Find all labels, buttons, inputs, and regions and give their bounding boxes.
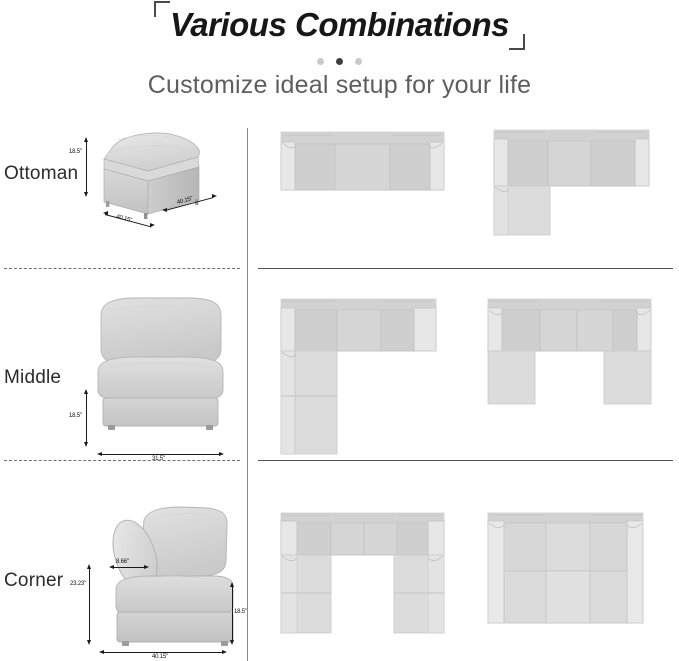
middle-height-arrow-up bbox=[84, 389, 88, 394]
page-title: Various Combinations bbox=[170, 6, 509, 43]
divider-solid-1 bbox=[258, 268, 673, 269]
infographic-page: Various Combinations Customize ideal set… bbox=[0, 0, 679, 661]
title-block: Various Combinations bbox=[0, 4, 679, 46]
corner-width-arrow-left bbox=[99, 650, 104, 654]
ottoman-width-arrow-left bbox=[103, 211, 108, 215]
corner-bolster-arrow-left bbox=[109, 565, 114, 569]
corner-seat-height-value: 18.5" bbox=[234, 609, 247, 615]
middle-width-arrow-right bbox=[219, 452, 224, 456]
row-ottoman: Ottoman bbox=[0, 120, 679, 280]
header: Various Combinations Customize ideal set… bbox=[0, 0, 679, 120]
ottoman-width-arrow-right bbox=[150, 223, 155, 227]
combination-cell-row3 bbox=[248, 470, 679, 661]
dot-2 bbox=[336, 58, 343, 65]
corner-bolster-arrow-right bbox=[144, 565, 149, 569]
module-cell-middle: Middle bbox=[0, 280, 247, 470]
divider-dashed-1 bbox=[4, 268, 240, 269]
bracket-top-left-icon bbox=[154, 1, 170, 17]
middle-height-arrow-down bbox=[84, 442, 88, 447]
corner-seat-height-arrow-up bbox=[230, 582, 234, 587]
ottoman-depth-arrow-right bbox=[212, 194, 217, 198]
ottoman-height-arrow-down bbox=[84, 192, 88, 197]
middle-height-line bbox=[86, 393, 87, 444]
corner-illustration bbox=[88, 502, 233, 647]
ottoman-illustration bbox=[78, 126, 218, 226]
corner-width-value: 40.15" bbox=[152, 654, 168, 660]
middle-height-value: 18.5" bbox=[69, 413, 82, 419]
middle-width-arrow-left bbox=[97, 452, 102, 456]
row-corner: Corner bbox=[0, 470, 679, 661]
module-cell-ottoman: Ottoman bbox=[0, 120, 247, 280]
module-label-corner: Corner bbox=[4, 570, 63, 592]
page-subtitle: Customize ideal setup for your life bbox=[0, 71, 679, 100]
divider-solid-2 bbox=[258, 460, 673, 461]
row-middle: Middle bbox=[0, 280, 679, 470]
corner-bolster-line bbox=[112, 567, 146, 568]
corner-bolster-value: 8.66" bbox=[116, 559, 129, 565]
combo-u-shape-small bbox=[488, 299, 651, 409]
combo-straight-3seat bbox=[281, 132, 444, 190]
combination-cell-row2 bbox=[248, 280, 679, 470]
combo-pit-rectangle bbox=[488, 513, 643, 623]
corner-width-arrow-right bbox=[222, 650, 227, 654]
corner-back-height-arrow-up bbox=[87, 564, 91, 569]
dot-separator bbox=[0, 53, 679, 71]
corner-back-height-arrow-down bbox=[87, 640, 91, 645]
middle-illustration bbox=[92, 294, 227, 434]
corner-seat-height-line bbox=[232, 586, 233, 642]
combo-u-shape-large bbox=[281, 513, 444, 633]
corner-back-height-value: 23.23" bbox=[70, 581, 86, 587]
ottoman-height-line bbox=[86, 141, 87, 194]
corner-seat-height-arrow-down bbox=[230, 640, 234, 645]
module-label-ottoman: Ottoman bbox=[4, 163, 78, 185]
combo-l-shape-large bbox=[281, 299, 436, 454]
ottoman-height-arrow-up bbox=[84, 137, 88, 142]
divider-dashed-2 bbox=[4, 460, 240, 461]
dot-1 bbox=[317, 58, 324, 65]
bracket-bottom-right-icon bbox=[509, 34, 525, 50]
ottoman-depth-arrow-left bbox=[162, 208, 167, 212]
module-cell-corner: Corner bbox=[0, 470, 247, 661]
corner-width-line bbox=[103, 652, 224, 653]
middle-width-value: 31.5" bbox=[152, 456, 165, 462]
module-label-middle: Middle bbox=[4, 367, 61, 389]
combination-cell-row1 bbox=[248, 120, 679, 280]
combo-l-shape-small bbox=[494, 130, 649, 235]
ottoman-height-value: 18.5" bbox=[69, 149, 82, 155]
dot-3 bbox=[355, 58, 362, 65]
middle-width-line bbox=[101, 454, 221, 455]
content-grid: Ottoman bbox=[0, 120, 679, 661]
corner-back-height-line bbox=[89, 568, 90, 642]
